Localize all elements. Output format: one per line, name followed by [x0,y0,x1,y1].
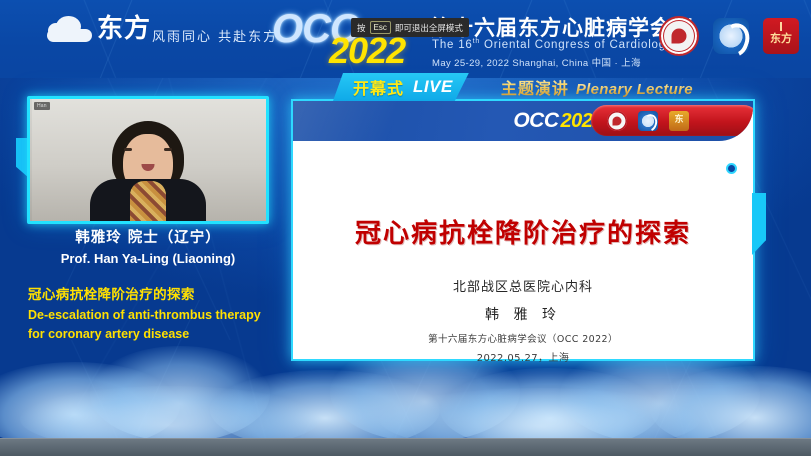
congress-date-location: May 25-29, 2022 Shanghai, China 中国 · 上海 [432,55,641,69]
speaker-name-cn: 韩雅玲 院士（辽宁） [0,228,296,248]
session-banner-row: 开幕式 LIVE 主题演讲 Plenary Lecture [333,73,693,101]
plenary-lecture-label: 主题演讲 Plenary Lecture [501,75,693,99]
esc-tip-prefix: 按 [357,22,366,34]
topic-title-en-line1: De-escalation of anti-thrombus therapy [28,307,278,324]
slide-occ-logo: OCC 2022 [513,109,603,133]
esc-key-badge: Esc [370,21,391,34]
presentation-slide[interactable]: OCC 2022 冠心病抗栓降阶治疗的探索 北部战区总医院心内科 韩 雅 玲 第… [291,99,755,361]
presentation-stage: 东方 风雨同心 共赴东方 OCC 2022 按 Esc 即可退出全屏模式 第十六… [0,0,811,456]
fullscreen-exit-tooltip: 按 Esc 即可退出全屏模式 [351,18,469,37]
congress-en-ordinal: th [473,38,480,45]
live-label-cn: 开幕式 [353,75,404,99]
speaker-eye-right [164,148,172,151]
occ-logo: OCC 2022 [272,10,358,48]
cmda-emblem-logo [659,16,699,56]
slide-date-place: 2022.05.27，上海 [293,349,753,364]
speaker-topic-block: 冠心病抗栓降阶治疗的探索 De-escalation of anti-throm… [28,286,278,343]
occ-year: 2022 [329,34,405,68]
right-decoration-tab [752,193,766,255]
speaker-name-block: 韩雅玲 院士（辽宁） Prof. Han Ya-Ling (Liaoning) [0,228,296,269]
brand-wordmark: 东方 [97,16,151,42]
slide-occ-mark: OCC [513,109,558,133]
dongfang-dome-logo [763,18,799,54]
slide-body: 冠心病抗栓降阶治疗的探索 北部战区总医院心内科 韩 雅 玲 第十六届东方心脏病学… [293,141,753,357]
blue-swirl-mini-logo [638,111,658,131]
slide-organization: 北部战区总医院心内科 [293,276,753,295]
live-label-en: LIVE [413,77,453,97]
slide-header-sheen [293,101,407,141]
congress-en-suffix: Oriental Congress of Cardiology [480,39,672,51]
brand-slogan: 风雨同心 共赴东方 [152,26,278,45]
esc-tip-suffix: 即可退出全屏模式 [395,22,463,34]
slide-header-bar: OCC 2022 [293,101,753,141]
dongfang-cloud-brand: 东方 [47,16,151,42]
topic-title-cn: 冠心病抗栓降阶治疗的探索 [28,286,278,305]
video-name-label: Han [34,102,50,110]
slide-title: 冠心病抗栓降阶治疗的探索 [293,213,753,250]
right-decoration-dot [726,163,737,174]
slide-presenter-name: 韩 雅 玲 [293,304,753,324]
slide-conference-name: 第十六届东方心脏病学会议（OCC 2022） [293,331,753,345]
topic-title-en-line2: for coronary artery disease [28,326,278,343]
header-logo-group [659,16,799,56]
congress-en-prefix: The 16 [432,39,473,51]
speaker-scarf [130,181,166,221]
cloud-puff [0,362,180,450]
page-header: 东方 风雨同心 共赴东方 OCC 2022 按 Esc 即可退出全屏模式 第十六… [0,0,811,78]
plenary-label-en: Plenary Lecture [576,81,693,98]
blue-swirl-logo [713,18,749,54]
plenary-label-cn: 主题演讲 [501,75,569,99]
speaker-name-en: Prof. Han Ya-Ling (Liaoning) [0,249,296,269]
speaker-figure [89,117,207,221]
cloud-icon [47,16,92,42]
speaker-video-frame[interactable]: Han [27,96,269,224]
congress-title-en: The 16th Oriental Congress of Cardiology [432,38,673,51]
speaker-eye-left [124,148,132,151]
bottom-bar [0,438,811,456]
dongfang-dome-mini-logo [669,111,689,131]
cmda-emblem-mini-logo [607,111,627,131]
live-session-tag: 开幕式 LIVE [333,73,469,101]
speaker-video-panel[interactable]: Han [27,96,269,224]
cloud-puff [90,346,270,442]
slide-logo-badge [591,105,753,136]
